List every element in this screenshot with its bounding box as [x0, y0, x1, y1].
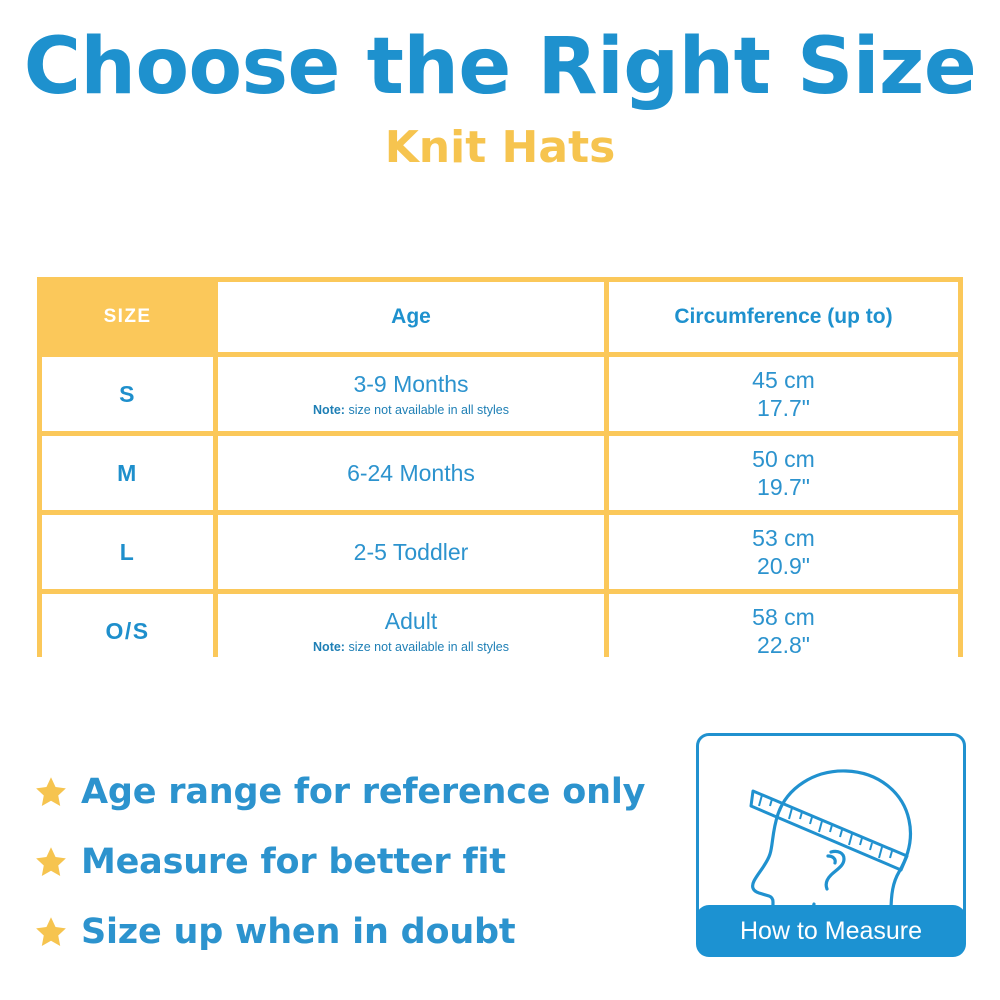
- list-item: Size up when in doubt: [34, 897, 674, 967]
- cell-circumference: 53 cm 20.9": [609, 515, 958, 589]
- circumference-in: 17.7": [613, 394, 954, 422]
- list-item: Measure for better fit: [34, 827, 674, 897]
- table-row: O/S Adult Note: size not available in al…: [42, 594, 958, 668]
- cell-size: O/S: [42, 594, 213, 668]
- circumference-cm: 58 cm: [613, 603, 954, 631]
- column-header-circumference: Circumference (up to): [609, 282, 958, 352]
- page-subtitle: Knit Hats: [0, 122, 1000, 173]
- circumference-cm: 50 cm: [613, 445, 954, 473]
- cell-age: Adult Note: size not available in all st…: [218, 594, 604, 668]
- cell-age: 6-24 Months: [218, 436, 604, 510]
- age-range: 3-9 Months: [222, 371, 600, 398]
- table-row: M 6-24 Months 50 cm 19.7": [42, 436, 958, 510]
- table-row: S 3-9 Months Note: size not available in…: [42, 357, 958, 431]
- star-icon: [34, 915, 68, 949]
- circumference-in: 19.7": [613, 473, 954, 501]
- page-header: Choose the Right Size Knit Hats: [0, 0, 1000, 173]
- list-item: Age range for reference only: [34, 757, 674, 827]
- how-to-measure-button[interactable]: How to Measure: [696, 905, 966, 957]
- cell-age: 3-9 Months Note: size not available in a…: [218, 357, 604, 431]
- age-range: 2-5 Toddler: [222, 539, 600, 566]
- star-icon: [34, 775, 68, 809]
- card-frame: [696, 733, 966, 929]
- size-chart-table: SIZE Age Circumference (up to) S 3-9 Mon…: [37, 277, 963, 657]
- cell-age: 2-5 Toddler: [218, 515, 604, 589]
- age-note: Note: size not available in all styles: [222, 403, 600, 417]
- table-header-row: SIZE Age Circumference (up to): [42, 282, 958, 352]
- how-to-measure-label: How to Measure: [740, 917, 922, 946]
- circumference-in: 20.9": [613, 552, 954, 580]
- circumference-cm: 45 cm: [613, 366, 954, 394]
- age-note-label: Note:: [313, 403, 345, 417]
- cell-circumference: 58 cm 22.8": [609, 594, 958, 668]
- head-profile-with-ruler-icon: [715, 744, 953, 928]
- cell-circumference: 50 cm 19.7": [609, 436, 958, 510]
- how-to-measure-card[interactable]: How to Measure: [696, 733, 966, 957]
- tip-text: Size up when in doubt: [81, 912, 515, 952]
- circumference-in: 22.8": [613, 631, 954, 659]
- tip-text: Measure for better fit: [81, 842, 506, 882]
- age-note: Note: size not available in all styles: [222, 640, 600, 654]
- column-header-size: SIZE: [42, 282, 213, 352]
- column-header-age: Age: [218, 282, 604, 352]
- tips-list: Age range for reference only Measure for…: [34, 757, 674, 967]
- age-range: 6-24 Months: [222, 460, 600, 487]
- cell-circumference: 45 cm 17.7": [609, 357, 958, 431]
- age-note-text: size not available in all styles: [345, 640, 509, 654]
- cell-size: S: [42, 357, 213, 431]
- age-range: Adult: [222, 608, 600, 635]
- age-note-label: Note:: [313, 640, 345, 654]
- page-title: Choose the Right Size: [0, 28, 1000, 108]
- table-row: L 2-5 Toddler 53 cm 20.9": [42, 515, 958, 589]
- tip-text: Age range for reference only: [81, 772, 645, 812]
- cell-size: L: [42, 515, 213, 589]
- age-note-text: size not available in all styles: [345, 403, 509, 417]
- star-icon: [34, 845, 68, 879]
- circumference-cm: 53 cm: [613, 524, 954, 552]
- cell-size: M: [42, 436, 213, 510]
